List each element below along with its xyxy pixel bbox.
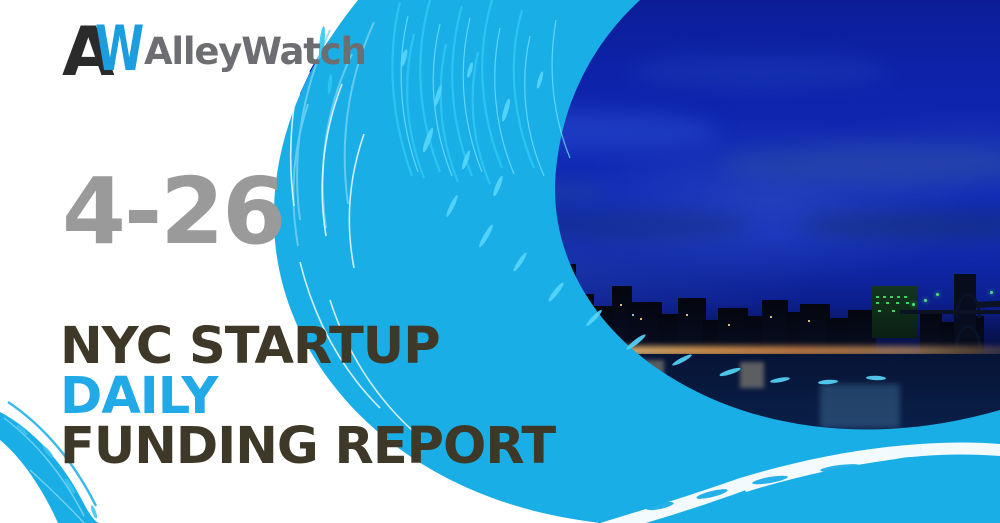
alleywatch-logo-mark: A W — [62, 20, 140, 82]
poster-headline: NYC STARTUP DAILY FUNDING REPORT — [60, 322, 555, 472]
headline-line-3: FUNDING REPORT — [60, 422, 555, 472]
headline-line-2: DAILY — [60, 372, 555, 422]
alleywatch-wordmark: AlleyWatch — [144, 30, 366, 73]
alleywatch-logo[interactable]: A W AlleyWatch — [62, 18, 366, 84]
headline-line-1: NYC STARTUP — [60, 322, 555, 372]
logo-letter-w: W — [95, 18, 143, 80]
funding-report-poster: A W AlleyWatch 4-26 NYC STARTUP DAILY FU… — [0, 0, 1000, 523]
report-date: 4-26 — [62, 166, 284, 258]
